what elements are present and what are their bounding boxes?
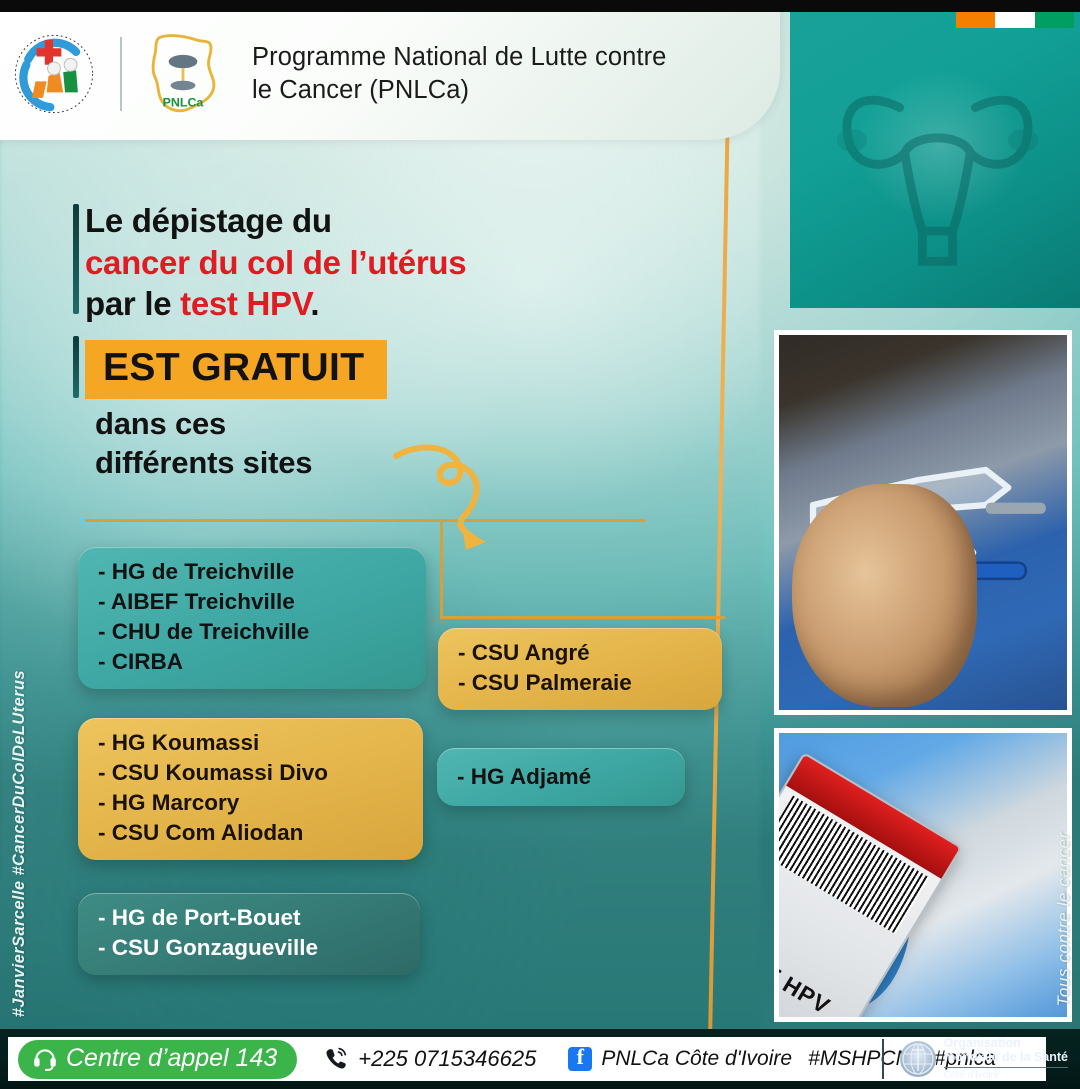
gloved-hand xyxy=(792,484,977,707)
gold-divider-line xyxy=(708,0,732,1030)
headline-line-3-highlight: test HPV xyxy=(180,285,310,322)
subheadline-line-2: différents sites xyxy=(95,444,312,483)
list-item: - CSU Angré xyxy=(458,638,704,668)
uterus-illustration xyxy=(790,8,1080,308)
site-box-adjame[interactable]: - HG Adjamé xyxy=(437,748,685,806)
who-emblem-icon xyxy=(900,1041,936,1077)
list-item: - AIBEF Treichville xyxy=(98,587,408,617)
list-item: - CHU de Treichville xyxy=(98,617,408,647)
connector-line-middle xyxy=(440,616,725,619)
list-item: - HG Koumassi xyxy=(98,728,405,758)
headline-line-3: par le test HPV. xyxy=(85,283,665,325)
site-box-koumassi[interactable]: - HG Koumassi - CSU Koumassi Divo - HG M… xyxy=(78,718,423,860)
call-center-badge[interactable]: Centre d’appel 143 xyxy=(18,1040,297,1079)
hpv-test-tube-photo: TEST HPV xyxy=(774,728,1072,1022)
photo-column: TEST HPV xyxy=(720,0,1080,1030)
slogan-vertical-right: Tous contre le cancer xyxy=(1054,832,1074,1007)
phone-icon xyxy=(323,1046,349,1072)
site-box-port-bouet[interactable]: - HG de Port-Bouet - CSU Gonzagueville xyxy=(78,893,420,975)
who-logo-block: Organisation mondiale de la Santé Côte d… xyxy=(900,1035,1068,1083)
list-item: - HG Marcory xyxy=(98,788,405,818)
ministry-of-health-logo xyxy=(8,28,100,120)
list-item: - CIRBA xyxy=(98,647,408,677)
site-box-angre[interactable]: - CSU Angré - CSU Palmeraie xyxy=(438,628,722,710)
headline-line-1: Le dépistage du xyxy=(85,200,665,242)
subheadline-line-1: dans ces xyxy=(95,405,312,444)
list-item: - CSU Koumassi Divo xyxy=(98,758,405,788)
hashtag-vertical-left: #JanvierSarcelle #CancerDuColDeLUterus xyxy=(10,670,29,1017)
call-center-label: Centre d’appel 143 xyxy=(66,1044,277,1073)
list-item: - HG de Treichville xyxy=(98,557,408,587)
speculum-in-hand-photo xyxy=(774,330,1072,715)
who-text-block: Organisation mondiale de la Santé Côte d… xyxy=(944,1036,1068,1081)
phone-number: +225 0715346625 xyxy=(358,1046,536,1072)
list-item: - CSU Gonzagueville xyxy=(98,933,402,963)
pnlca-logo: PNLCa xyxy=(140,28,226,120)
flag-stripe-orange xyxy=(956,12,995,28)
who-line-3: Côte d'Ivoire xyxy=(944,1067,1068,1081)
list-item: - HG de Port-Bouet xyxy=(98,903,402,933)
gratuit-accent-bar xyxy=(73,336,79,398)
headline-accent-bar xyxy=(73,204,79,314)
logo-divider xyxy=(120,37,122,111)
footer-content: Centre d’appel 143 +225 0715346625 PNLCa… xyxy=(8,1037,1046,1081)
list-item: - CSU Com Aliodan xyxy=(98,818,405,848)
header-panel: PNLCa Programme National de Lutte contre… xyxy=(0,8,780,140)
flag-stripe-white xyxy=(995,12,1034,28)
site-box-treichville[interactable]: - HG de Treichville - AIBEF Treichville … xyxy=(78,547,426,689)
headline-line-3-prefix: par le xyxy=(85,285,180,322)
uterus-icon xyxy=(807,32,1068,284)
footer-bar: Centre d’appel 143 +225 0715346625 PNLCa… xyxy=(0,1029,1080,1089)
test-tube-label: TEST HPV xyxy=(774,919,860,1022)
facebook-icon xyxy=(568,1047,592,1071)
cote-divoire-flag xyxy=(956,12,1074,28)
headline-line-3-suffix: . xyxy=(310,285,319,322)
who-globe-icon xyxy=(900,1041,936,1077)
cote-divoire-map-icon: PNLCa xyxy=(140,28,226,120)
curved-arrow-icon xyxy=(390,442,510,562)
facebook-page-name: PNLCa Côte d'Ivoire xyxy=(601,1047,792,1071)
pnlca-logo-text: PNLCa xyxy=(163,95,204,109)
who-divider xyxy=(882,1039,884,1079)
connector-line-top xyxy=(85,519,645,522)
poster-root: TEST HPV xyxy=(0,0,1080,1089)
page-title: Programme National de Lutte contre le Ca… xyxy=(252,41,682,106)
list-item: - HG Adjamé xyxy=(457,762,667,792)
who-line-2: mondiale de la Santé xyxy=(944,1050,1068,1064)
top-black-edge xyxy=(0,0,1080,12)
headline-line-2: cancer du col de l’utérus xyxy=(85,242,665,284)
moh-emblem-icon xyxy=(8,28,100,120)
who-line-1: Organisation xyxy=(944,1036,1068,1050)
headline-block: Le dépistage du cancer du col de l’utéru… xyxy=(85,200,665,325)
subheadline: dans ces différents sites xyxy=(95,405,312,483)
gratuit-block: EST GRATUIT xyxy=(85,340,387,399)
test-tube: TEST HPV xyxy=(774,752,962,1022)
list-item: - CSU Palmeraie xyxy=(458,668,704,698)
phone-block[interactable]: +225 0715346625 xyxy=(323,1046,536,1072)
flag-stripe-green xyxy=(1035,12,1074,28)
facebook-block[interactable]: PNLCa Côte d'Ivoire xyxy=(568,1047,792,1071)
headset-icon xyxy=(32,1045,58,1071)
gratuit-badge: EST GRATUIT xyxy=(85,340,387,399)
